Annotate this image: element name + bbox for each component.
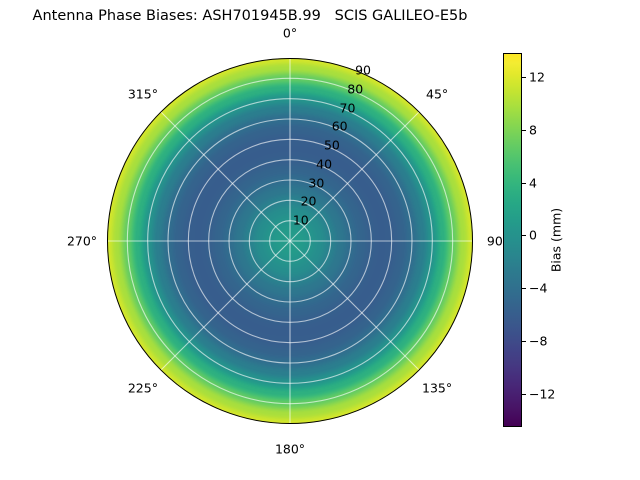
figure-canvas: Antenna Phase Biases: ASH701945B.99 SCIS… [0,0,640,480]
radial-tick-label-90: 90 [355,62,371,77]
colorbar-axes[interactable]: 12840−4−8−12 [503,53,522,427]
colorbar-tick-mark [522,394,526,395]
polar-heatmap-surface [107,58,473,424]
colorbar-tick-label-0: 0 [529,228,537,243]
radial-tick-label-40: 40 [316,156,332,171]
colorbar-tick-label-8: 8 [529,122,537,137]
colorbar-tick-label--12: −12 [529,386,555,401]
theta-tick-label-315: 315° [128,86,158,101]
radial-tick-label-60: 60 [332,119,348,134]
colorbar-tick-label-12: 12 [529,69,545,84]
theta-tick-label-270: 270° [67,234,97,249]
radial-tick-label-70: 70 [340,100,356,115]
theta-tick-label-45: 45° [426,86,448,101]
theta-tick-label-135: 135° [422,381,452,396]
colorbar-gradient [503,53,522,427]
theta-tick-label-180: 180° [275,442,305,457]
page-title: Antenna Phase Biases: ASH701945B.99 SCIS… [0,8,500,24]
colorbar-axis-label: Bias (mm) [549,208,564,272]
radial-tick-label-80: 80 [347,81,363,96]
colorbar-tick-mark [522,235,526,236]
theta-tick-label-0: 0° [283,26,297,41]
theta-tick-label-225: 225° [128,381,158,396]
colorbar-tick-mark [522,341,526,342]
radial-tick-label-30: 30 [308,175,324,190]
polar-axes[interactable] [107,58,473,424]
colorbar-tick-mark [522,288,526,289]
colorbar-tick-mark [522,183,526,184]
radial-tick-label-20: 20 [301,194,317,209]
colorbar-tick-label--4: −4 [529,281,547,296]
colorbar-tick-label-4: 4 [529,175,537,190]
colorbar-tick-mark [522,77,526,78]
radial-tick-label-10: 10 [293,213,309,228]
colorbar-tick-mark [522,130,526,131]
radial-tick-label-50: 50 [324,138,340,153]
colorbar-tick-label--8: −8 [529,334,547,349]
